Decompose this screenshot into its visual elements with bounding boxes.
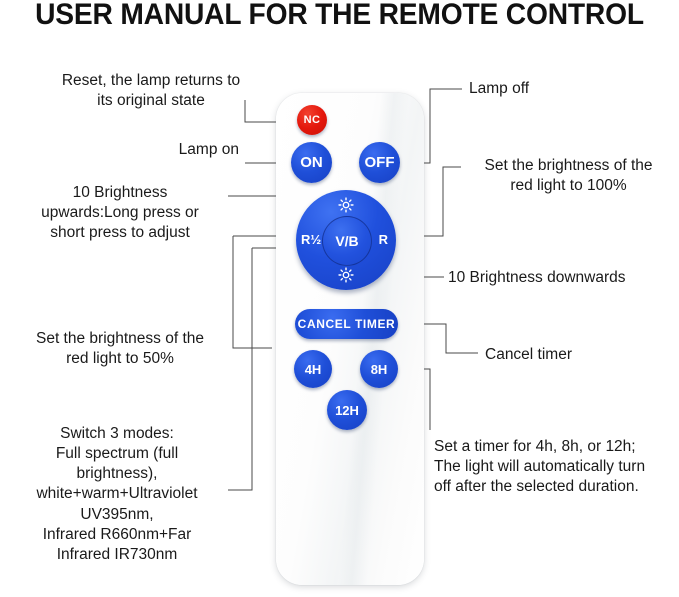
brightness-up-sun-icon[interactable] bbox=[338, 197, 354, 213]
mode-switch-button[interactable]: V/B bbox=[322, 216, 372, 266]
brightness-down-sun-icon[interactable] bbox=[338, 267, 354, 283]
callout-reset: Reset, the lamp returns to its original … bbox=[24, 71, 278, 111]
leader-modes-b bbox=[228, 248, 252, 490]
callout-lamp-off: Lamp off bbox=[469, 79, 669, 99]
callout-brightness-up: 10 Brightness upwards:Long press or shor… bbox=[14, 183, 226, 243]
callout-red-100: Set the brightness of the red light to 1… bbox=[466, 156, 671, 196]
callout-cancel-timer: Cancel timer bbox=[485, 345, 670, 365]
brightness-dpad[interactable]: R½ R V/B bbox=[296, 190, 396, 290]
callout-red-50: Set the brightness of the red light to 5… bbox=[12, 329, 228, 369]
cancel-timer-button[interactable]: CANCEL TIMER bbox=[295, 309, 398, 339]
timer-4h-button[interactable]: 4H bbox=[294, 350, 332, 388]
timer-8h-button[interactable]: 8H bbox=[360, 350, 398, 388]
red-half-brightness-label[interactable]: R½ bbox=[301, 233, 321, 246]
nc-reset-button[interactable]: NC bbox=[297, 105, 327, 135]
lamp-on-button[interactable]: ON bbox=[291, 142, 332, 183]
callout-modes: Switch 3 modes: Full spectrum (full brig… bbox=[14, 424, 220, 565]
leader-red50-b bbox=[233, 236, 272, 348]
callout-brightness-down: 10 Brightness downwards bbox=[448, 268, 674, 288]
callout-lamp-on: Lamp on bbox=[24, 140, 239, 160]
page-title: USER MANUAL FOR THE REMOTE CONTROL bbox=[20, 0, 658, 32]
lamp-off-button[interactable]: OFF bbox=[359, 142, 400, 183]
manual-diagram: USER MANUAL FOR THE REMOTE CONTROL bbox=[0, 0, 679, 597]
callout-timer: Set a timer for 4h, 8h, or 12h; The ligh… bbox=[434, 437, 674, 497]
timer-12h-button[interactable]: 12H bbox=[327, 390, 367, 430]
red-full-brightness-label[interactable]: R bbox=[379, 233, 388, 246]
